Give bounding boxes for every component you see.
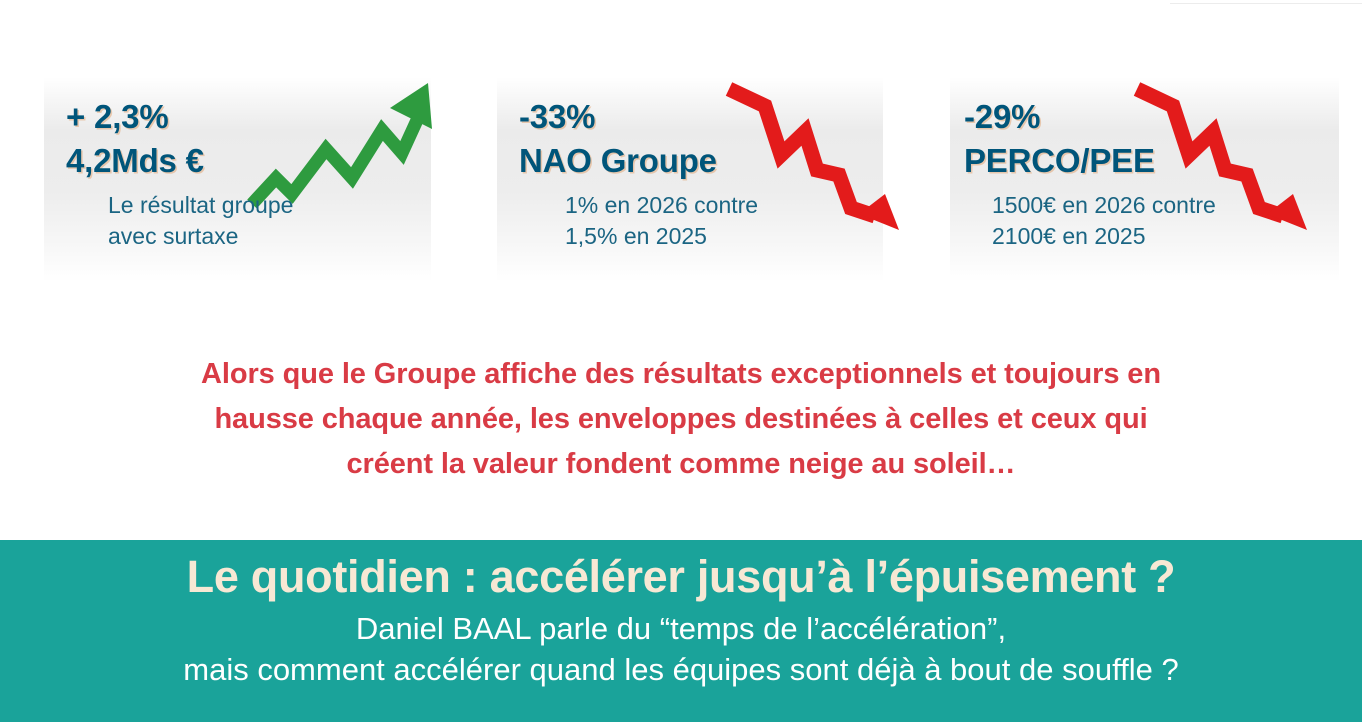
- kpi-detail-line-2: avec surtaxe: [108, 221, 293, 252]
- kpi-detail-line-1: 1500€ en 2026 contre: [992, 190, 1216, 221]
- kpi-text-block: + 2,3% 4,2Mds € Le résultat groupe avec …: [66, 95, 293, 251]
- kpi-card-perco-pee: -29% PERCO/PEE 1500€ en 2026 contre 2100…: [950, 77, 1339, 282]
- kpi-detail-line-2: 1,5% en 2025: [565, 221, 758, 252]
- kpi-amount: PERCO/PEE: [964, 139, 1216, 183]
- banner-title: Le quotidien : accélérer jusqu’à l’épuis…: [0, 550, 1362, 603]
- kpi-amount: NAO Groupe: [519, 139, 758, 183]
- teal-banner: Le quotidien : accélérer jusqu’à l’épuis…: [0, 540, 1362, 722]
- banner-subtitle-line-2: mais comment accélérer quand les équipes…: [0, 650, 1362, 691]
- statement-line-3: créent la valeur fondent comme neige au …: [60, 442, 1302, 487]
- statement-line-2: hausse chaque année, les enveloppes dest…: [60, 397, 1302, 442]
- kpi-card-nao-groupe: -33% NAO Groupe 1% en 2026 contre 1,5% e…: [497, 77, 883, 282]
- kpi-detail-line-1: Le résultat groupe: [108, 190, 293, 221]
- statement-line-1: Alors que le Groupe affiche des résultat…: [60, 352, 1302, 397]
- kpi-percent: -29%: [964, 95, 1216, 139]
- statement-paragraph: Alors que le Groupe affiche des résultat…: [0, 352, 1362, 487]
- kpi-card-resultat-groupe: + 2,3% 4,2Mds € Le résultat groupe avec …: [44, 77, 431, 282]
- banner-subtitle-line-1: Daniel BAAL parle du “temps de l’accélér…: [0, 609, 1362, 650]
- kpi-percent: -33%: [519, 95, 758, 139]
- kpi-amount: 4,2Mds €: [66, 139, 293, 183]
- kpi-text-block: -29% PERCO/PEE 1500€ en 2026 contre 2100…: [964, 95, 1216, 251]
- kpi-card-row: + 2,3% 4,2Mds € Le résultat groupe avec …: [0, 0, 1362, 300]
- kpi-detail-line-1: 1% en 2026 contre: [565, 190, 758, 221]
- kpi-percent: + 2,3%: [66, 95, 293, 139]
- kpi-detail-line-2: 2100€ en 2025: [992, 221, 1216, 252]
- kpi-text-block: -33% NAO Groupe 1% en 2026 contre 1,5% e…: [519, 95, 758, 251]
